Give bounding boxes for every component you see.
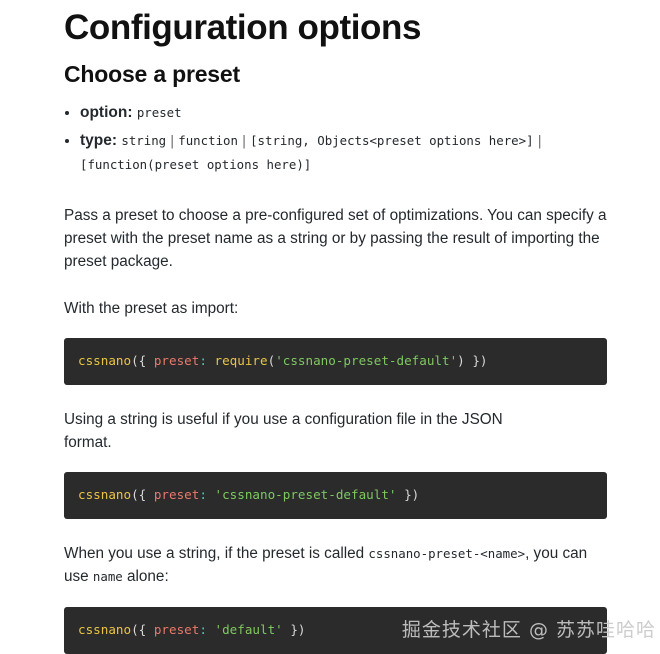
option-meta-list: option: preset type: string|function|[st… bbox=[64, 101, 608, 177]
paragraph-using-string: Using a string is useful if you use a co… bbox=[64, 408, 608, 455]
code-token-string: 'default' bbox=[215, 622, 283, 637]
spacer bbox=[64, 181, 608, 204]
meta-key-type: type: bbox=[80, 132, 117, 149]
code-content: cssnano({ preset: require('cssnano-prese… bbox=[78, 353, 488, 368]
code-token-require: require bbox=[215, 353, 268, 368]
code-token-string: 'cssnano-preset-default' bbox=[275, 353, 457, 368]
meta-value-option: preset bbox=[137, 105, 182, 120]
spacer bbox=[64, 519, 608, 542]
code-token-colon: : bbox=[199, 353, 207, 368]
code-block-string-preset-full: cssnano({ preset: 'cssnano-preset-defaul… bbox=[64, 472, 607, 519]
type-part-string: string bbox=[121, 133, 166, 148]
page-title: Configuration options bbox=[64, 0, 608, 47]
code-block-string-preset-short: cssnano({ preset: 'default' }) bbox=[64, 607, 607, 654]
code-token-function: cssnano bbox=[78, 353, 131, 368]
code-content: cssnano({ preset: 'cssnano-preset-defaul… bbox=[78, 487, 419, 502]
code-token-punct: ({ bbox=[131, 622, 154, 637]
code-token-space bbox=[207, 353, 215, 368]
spacer bbox=[64, 320, 608, 338]
type-separator: | bbox=[534, 133, 546, 149]
list-item-type: type: string|function|[string, Objects<p… bbox=[64, 129, 608, 177]
spacer bbox=[64, 589, 608, 607]
code-token-colon: : bbox=[199, 622, 207, 637]
code-block-require-preset: cssnano({ preset: require('cssnano-prese… bbox=[64, 338, 607, 385]
paragraph-with-import: With the preset as import: bbox=[64, 297, 608, 320]
spacer bbox=[64, 385, 608, 408]
section-heading: Choose a preset bbox=[64, 61, 608, 89]
inline-code-name: name bbox=[93, 569, 123, 584]
when-string-post: alone: bbox=[123, 568, 169, 585]
code-token-function: cssnano bbox=[78, 622, 131, 637]
paragraph-line-2: format. bbox=[64, 434, 112, 451]
spacer bbox=[64, 454, 608, 472]
code-token-punct: }) bbox=[283, 622, 306, 637]
type-part-fnarray: [function(preset options here)] bbox=[80, 157, 311, 172]
inline-code-preset-name: cssnano-preset-<name> bbox=[368, 546, 525, 561]
code-token-punct: ({ bbox=[131, 353, 154, 368]
type-part-array: [string, Objects<preset options here>] bbox=[250, 133, 533, 148]
paragraph-line-1: Using a string is useful if you use a co… bbox=[64, 411, 503, 428]
paragraph-when-string: When you use a string, if the preset is … bbox=[64, 542, 608, 589]
code-token-property: preset bbox=[154, 622, 200, 637]
document-page: Configuration options Choose a preset op… bbox=[0, 0, 660, 650]
code-token-property: preset bbox=[154, 487, 200, 502]
code-token-punct: ({ bbox=[131, 487, 154, 502]
spacer bbox=[64, 274, 608, 297]
code-token-space bbox=[207, 622, 215, 637]
code-token-function: cssnano bbox=[78, 487, 131, 502]
type-separator: | bbox=[166, 133, 178, 149]
code-token-property: preset bbox=[154, 353, 200, 368]
code-token-string: 'cssnano-preset-default' bbox=[215, 487, 397, 502]
type-separator: | bbox=[238, 133, 250, 149]
list-item-option: option: preset bbox=[64, 101, 608, 125]
type-part-function: function bbox=[178, 133, 238, 148]
code-token-space bbox=[207, 487, 215, 502]
when-string-pre: When you use a string, if the preset is … bbox=[64, 545, 368, 562]
paragraph-intro: Pass a preset to choose a pre-configured… bbox=[64, 204, 608, 274]
code-token-punct: }) bbox=[397, 487, 420, 502]
code-token-colon: : bbox=[199, 487, 207, 502]
code-content: cssnano({ preset: 'default' }) bbox=[78, 622, 306, 637]
code-token-punct: ) }) bbox=[457, 353, 487, 368]
meta-key-option: option: bbox=[80, 104, 133, 121]
